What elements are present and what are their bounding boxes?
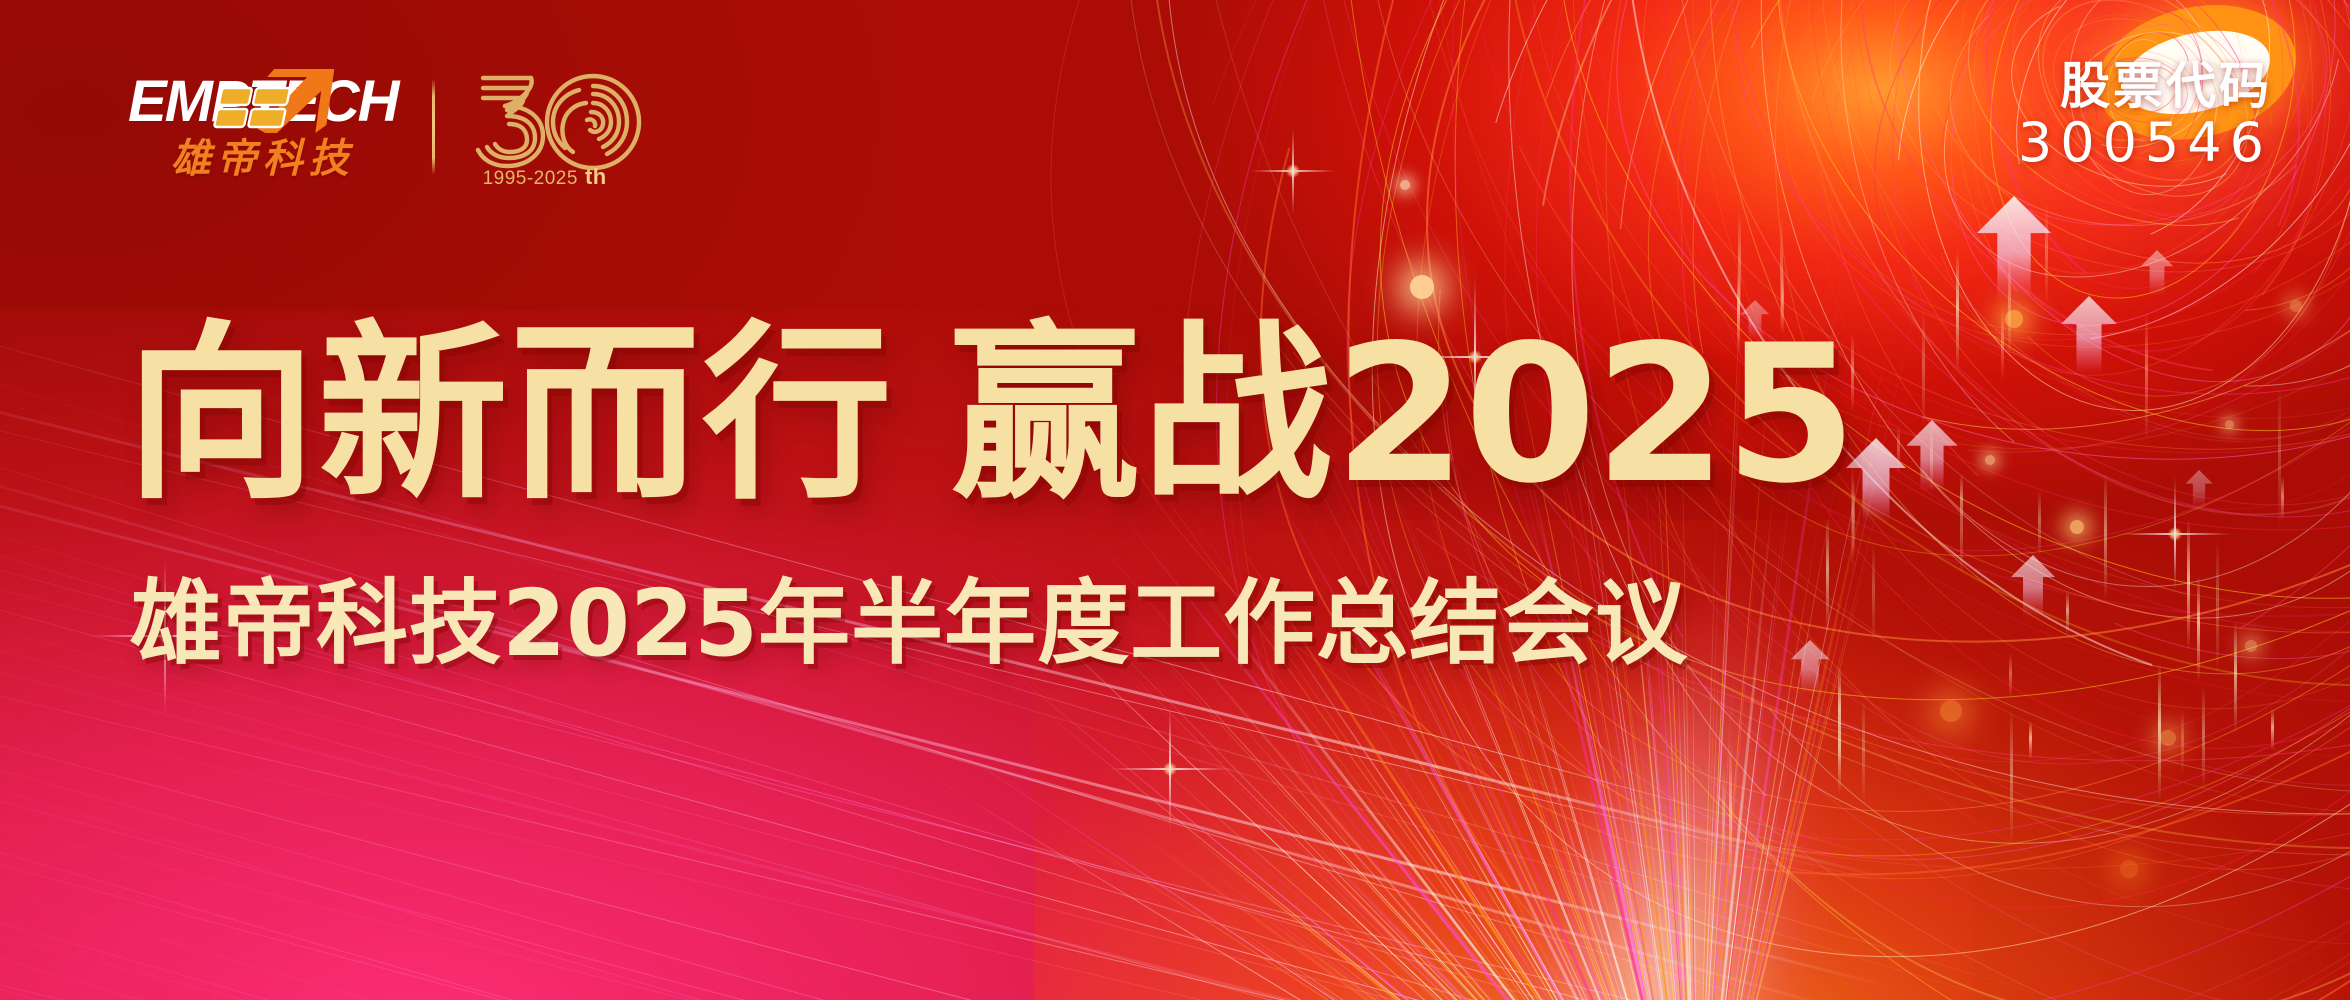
bokeh-dot [2290,300,2302,312]
stock-code-label: 股票代码 [2018,60,2272,113]
logo-wordmark: EMPTECH [128,71,398,133]
light-rod [2278,386,2281,529]
sparkle-icon [1105,704,1235,834]
light-rod [2066,591,2069,635]
sparkle-icon [1248,126,1338,216]
light-rod [2202,687,2205,789]
light-rod [1862,698,1865,803]
light-rod [2009,654,2012,697]
light-rod [2104,474,2107,601]
stock-code-value: 300546 [2018,113,2272,173]
light-rod [2271,709,2274,750]
subtitle-year: 2025 [502,570,758,677]
light-rod [2187,519,2190,651]
light-rod [2234,621,2237,734]
logo-chip-icon [211,85,295,131]
brand-divider [432,79,435,175]
light-rod [1956,251,1959,370]
subtitle-suffix: 年半年度工作总结会议 [758,573,1688,675]
light-rod [2010,709,2013,845]
light-rod [2045,204,2048,304]
subtitle: 雄帝科技2025年半年度工作总结会议 [130,578,1688,670]
light-rod [1826,518,1829,632]
bokeh-dot [2160,730,2176,746]
light-rod [2216,539,2219,676]
anniversary-caption: 1995-2025th [483,164,607,190]
light-rod [2181,710,2184,774]
light-rod [2038,490,2041,557]
bokeh-dot [1410,275,1434,299]
bokeh-dot [2120,860,2138,878]
bokeh-dot [2245,640,2257,652]
banner-canvas: EMPTECH [0,0,2350,1000]
logo-chinese-name: 雄帝科技 [171,139,355,179]
light-rod [1838,665,1841,763]
headline: 向新而行赢战2025 [126,320,1855,510]
light-rod [1930,426,1933,492]
light-rod [1960,492,1963,574]
headline-year: 2025 [1334,304,1855,525]
light-rod [1872,542,1875,644]
light-rod [1922,311,1925,429]
light-rod [2145,311,2148,440]
light-rod [1729,743,1732,886]
anniversary-logo[interactable]: 1995-2025th [469,62,645,188]
company-logo[interactable]: EMPTECH [128,71,398,179]
bokeh-dot [2225,420,2234,429]
light-rod [2197,576,2200,681]
light-rod [1722,766,1725,874]
bokeh-dot [1940,700,1962,722]
anniversary-years: 1995-2025 [483,168,578,189]
light-rod [2281,477,2284,521]
light-rod [2001,307,2004,380]
light-rod [2008,253,2011,357]
light-rod [2029,721,2032,759]
headline-part-2: 赢战 [950,309,1334,521]
light-rod [2158,663,2161,801]
anniversary-suffix: th [585,164,607,189]
bokeh-dot [2070,520,2084,534]
light-rod [1897,425,1900,474]
bokeh-dot [1400,180,1410,190]
headline-part-1: 向新而行 [126,309,894,521]
subtitle-prefix: 雄帝科技 [130,573,502,675]
bokeh-dot [1985,455,1995,465]
brand-bar: EMPTECH [128,62,645,188]
stock-code-block: 股票代码 300546 [2018,60,2272,173]
